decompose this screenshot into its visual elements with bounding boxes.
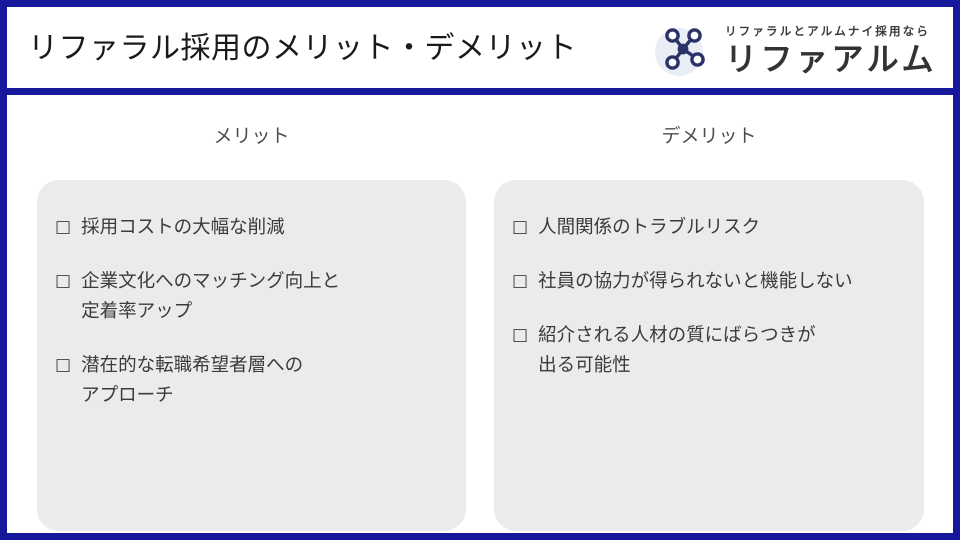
checkbox-icon: □: [512, 212, 528, 242]
list-item-label: 人間関係のトラブルリスク: [538, 212, 760, 242]
checkbox-icon: □: [55, 266, 71, 296]
list-item-label: 企業文化へのマッチング向上と 定着率アップ: [81, 266, 340, 326]
list-item: □ 企業文化へのマッチング向上と 定着率アップ: [55, 266, 448, 326]
page-title: リファラル採用のメリット・デメリット: [28, 27, 577, 71]
checkbox-icon: □: [55, 350, 71, 380]
column-heading-demerit: デメリット: [494, 123, 924, 151]
checkbox-icon: □: [512, 266, 528, 296]
logo-wordmark: リファラルとアルムナイ採用なら リファアルム: [725, 25, 937, 78]
column-headings: メリット デメリット: [7, 123, 953, 155]
list-item: □ 人間関係のトラブルリスク: [512, 212, 906, 242]
column-heading-merit: メリット: [37, 123, 466, 151]
network-nodes-icon: [653, 20, 715, 82]
list-item-label: 潜在的な転職希望者層への アプローチ: [81, 350, 303, 410]
checkbox-icon: □: [55, 212, 71, 242]
demerit-panel: □ 人間関係のトラブルリスク □ 社員の協力が得られないと機能しない □ 紹介さ…: [494, 180, 924, 531]
demerit-list: □ 人間関係のトラブルリスク □ 社員の協力が得られないと機能しない □ 紹介さ…: [512, 212, 906, 380]
list-item-label: 社員の協力が得られないと機能しない: [538, 266, 853, 296]
checkbox-icon: □: [512, 320, 528, 350]
list-item-label: 採用コストの大幅な削減: [81, 212, 285, 242]
logo-name: リファアルム: [725, 40, 937, 78]
list-item: □ 潜在的な転職希望者層への アプローチ: [55, 350, 448, 410]
logo-tagline: リファラルとアルムナイ採用なら: [725, 25, 930, 39]
merit-list: □ 採用コストの大幅な削減 □ 企業文化へのマッチング向上と 定着率アップ □ …: [55, 212, 448, 410]
list-item-label: 紹介される人材の質にばらつきが 出る可能性: [538, 320, 816, 380]
slide-header: リファラル採用のメリット・デメリット: [7, 7, 953, 95]
merit-panel: □ 採用コストの大幅な削減 □ 企業文化へのマッチング向上と 定着率アップ □ …: [37, 180, 466, 531]
slide: リファラル採用のメリット・デメリット: [0, 0, 960, 540]
list-item: □ 社員の協力が得られないと機能しない: [512, 266, 906, 296]
list-item: □ 紹介される人材の質にばらつきが 出る可能性: [512, 320, 906, 380]
network-nodes-glyph: [660, 25, 710, 75]
brand-logo: リファラルとアルムナイ採用なら リファアルム: [653, 13, 937, 89]
list-item: □ 採用コストの大幅な削減: [55, 212, 448, 242]
